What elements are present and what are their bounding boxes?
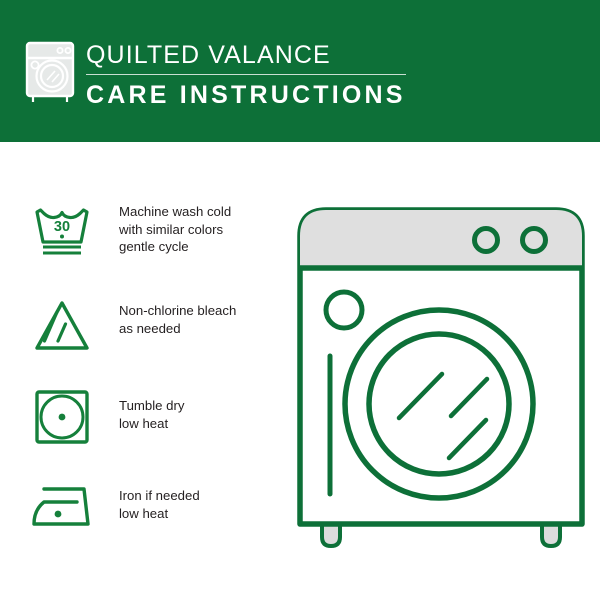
washing-machine-icon [24,41,76,103]
tumble-dry-low-heat-icon [31,386,93,448]
care-instructions-page: QUILTED VALANCE CARE INSTRUCTIONS 30 Mac… [0,0,600,600]
care-line: gentle cycle [119,238,284,256]
care-row-bleach: Non-chlorine bleach as needed [0,280,290,370]
machine-wash-30-gentle-icon: 30 [31,202,93,264]
page-subtitle: CARE INSTRUCTIONS [86,80,556,110]
wash-temperature-label: 30 [54,219,70,235]
title-divider [86,74,406,75]
page-header: QUILTED VALANCE CARE INSTRUCTIONS [0,0,600,142]
care-row-iron: Iron if needed low heat [0,460,290,550]
care-line: low heat [119,415,284,433]
care-line: as needed [119,320,284,338]
care-line: low heat [119,505,284,523]
control-panel [300,210,582,268]
care-row-label: Iron if needed low heat [119,487,284,522]
iron-low-heat-icon [31,480,93,542]
header-title-block: QUILTED VALANCE CARE INSTRUCTIONS [86,40,556,110]
care-instruction-list: 30 Machine wash cold with similar colors… [0,190,290,550]
care-row-tumble-dry: Tumble dry low heat [0,370,290,460]
non-chlorine-bleach-triangle-icon [31,298,93,360]
page-title: QUILTED VALANCE [86,40,556,70]
care-row-label: Tumble dry low heat [119,397,284,432]
care-line: Tumble dry [119,397,284,415]
care-row-label: Machine wash cold with similar colors ge… [119,203,284,256]
care-line: Non-chlorine bleach [119,302,284,320]
care-line: Machine wash cold [119,203,284,221]
front-load-washing-machine-illustration [296,196,586,564]
care-line: Iron if needed [119,487,284,505]
care-row-label: Non-chlorine bleach as needed [119,302,284,337]
care-row-machine-wash: 30 Machine wash cold with similar colors… [0,190,290,280]
care-line: with similar colors [119,221,284,239]
